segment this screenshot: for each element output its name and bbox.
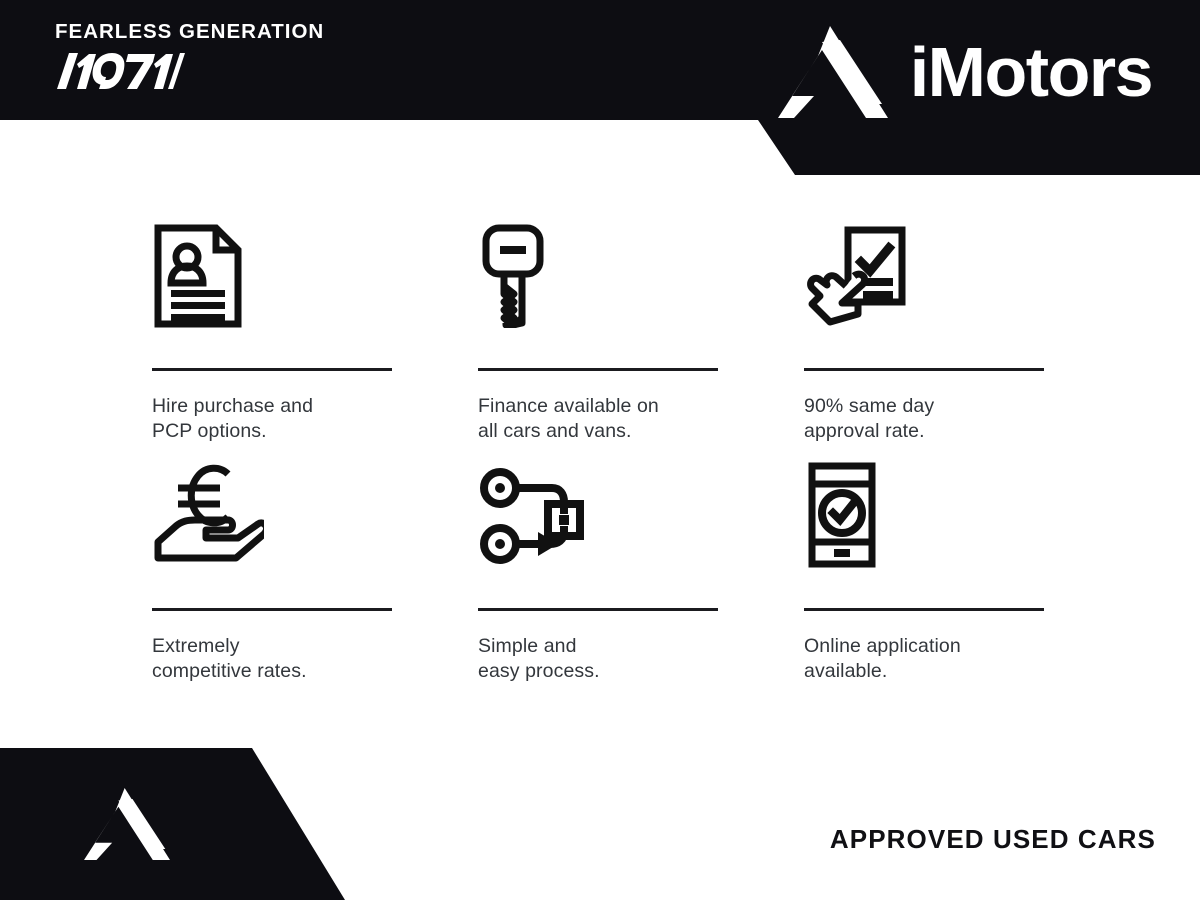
feature-item: Online application available. [804, 460, 1048, 700]
campaign-title: FEARLESS GENERATION [55, 22, 395, 43]
car-key-icon [478, 220, 804, 328]
feature-grid: Hire purchase and PCP options. Finance a… [152, 220, 1048, 700]
brand-lockup: iMotors [778, 26, 1152, 118]
feature-item: 90% same day approval rate. [804, 220, 1048, 460]
footer-tagline: APPROVED USED CARS [830, 824, 1156, 855]
document-person-icon [152, 220, 478, 328]
feature-item: Hire purchase and PCP options. [152, 220, 478, 460]
feature-divider [478, 608, 718, 611]
feature-label: Extremely competitive rates. [152, 634, 478, 684]
feature-label: 90% same day approval rate. [804, 394, 1048, 444]
feature-label: Hire purchase and PCP options. [152, 394, 478, 444]
footer-imotors-chevron-logo-icon [84, 787, 170, 861]
footer-background-shape [0, 748, 345, 900]
imotors-chevron-logo-icon [778, 26, 888, 118]
process-flow-icon [478, 460, 804, 568]
1971-slanted-wordmark-icon [55, 49, 185, 93]
feature-label: Finance available on all cars and vans. [478, 394, 804, 444]
feature-item: Extremely competitive rates. [152, 460, 478, 700]
feature-divider [152, 368, 392, 371]
feature-label: Simple and easy process. [478, 634, 804, 684]
campaign-badge: FEARLESS GENERATION [55, 22, 395, 93]
smartphone-check-icon [804, 460, 1048, 568]
page-header: FEARLESS GENERATION [0, 0, 1200, 180]
feature-divider [478, 368, 718, 371]
euro-in-hand-icon [152, 460, 478, 568]
feature-divider [152, 608, 392, 611]
feature-label: Online application available. [804, 634, 1048, 684]
hand-holding-checklist-icon [804, 220, 1048, 328]
feature-divider [804, 368, 1044, 371]
feature-divider [804, 608, 1044, 611]
feature-item: Simple and easy process. [478, 460, 804, 700]
brand-name: iMotors [910, 37, 1152, 107]
feature-item: Finance available on all cars and vans. [478, 220, 804, 460]
